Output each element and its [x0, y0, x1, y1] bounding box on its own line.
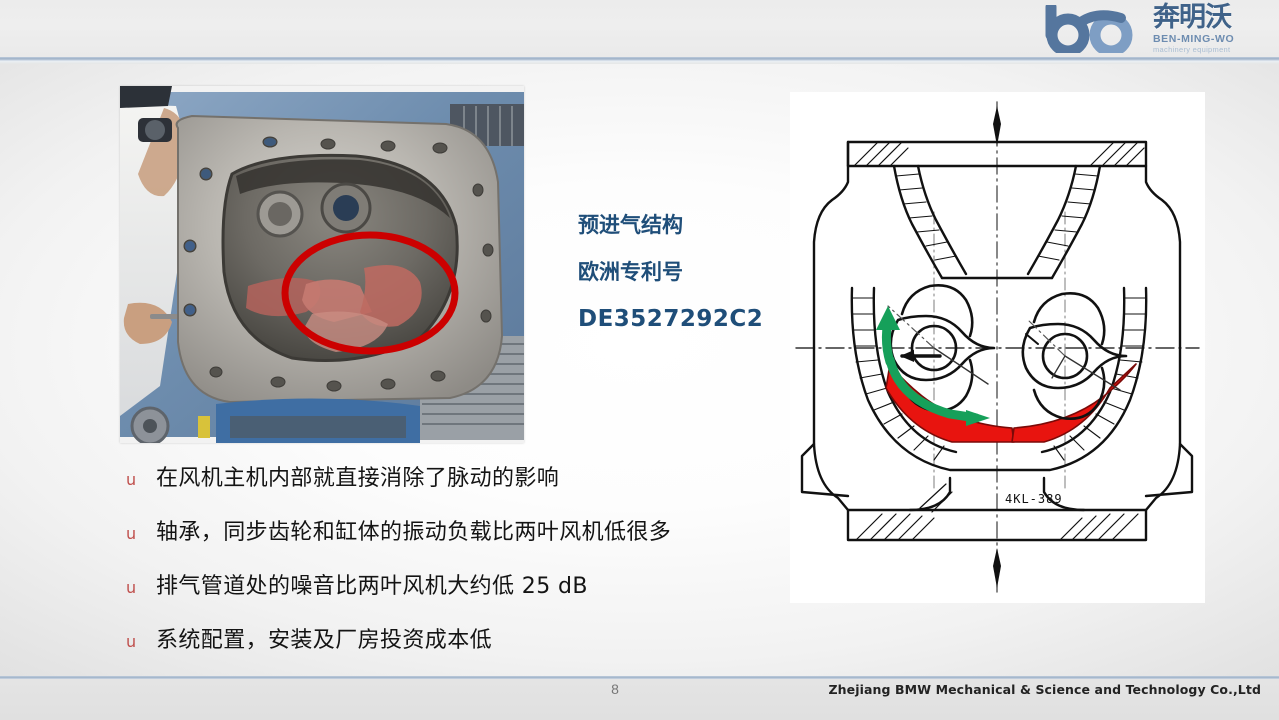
bullet-marker-icon: u — [118, 524, 156, 543]
bullet-marker-icon: u — [118, 632, 156, 651]
blower-casing-photo — [120, 86, 524, 443]
presentation-slide: 奔明沃 BEN-MING-WO machinery equipment — [0, 0, 1279, 720]
footer-company-name: Zhejiang BMW Mechanical & Science and Te… — [829, 682, 1261, 697]
patent-heading-block: 预进气结构 欧洲专利号 DE3527292C2 — [578, 202, 793, 343]
list-item: u 系统配置，安装及厂房投资成本低 — [118, 622, 818, 676]
list-item: u 轴承，同步齿轮和缸体的振动负载比两叶风机低很多 — [118, 514, 818, 568]
bullet-text: 系统配置，安装及厂房投资成本低 — [156, 622, 492, 654]
logo-chinese-name: 奔明沃 — [1153, 3, 1271, 33]
logo-wordmark: 奔明沃 BEN-MING-WO machinery equipment — [1153, 3, 1271, 55]
feature-bullet-list: u 在风机主机内部就直接消除了脉动的影响 u 轴承，同步齿轮和缸体的振动负载比两… — [118, 460, 818, 676]
bullet-marker-icon: u — [118, 470, 156, 489]
bullet-marker-icon: u — [118, 578, 156, 597]
heading-line-2: 欧洲专利号 — [578, 249, 793, 296]
bullet-text: 排气管道处的噪音比两叶风机大约低 25 dB — [156, 568, 588, 600]
heading-patent-number: DE3527292C2 — [578, 296, 793, 343]
bullet-text: 轴承，同步齿轮和缸体的振动负载比两叶风机低很多 — [156, 514, 671, 546]
header-divider-shadow — [0, 61, 1279, 64]
list-item: u 在风机主机内部就直接消除了脉动的影响 — [118, 460, 818, 514]
list-item: u 排气管道处的噪音比两叶风机大约低 25 dB — [118, 568, 818, 622]
bo-monogram-icon — [1045, 5, 1149, 53]
heading-line-1: 预进气结构 — [578, 202, 793, 249]
page-number: 8 — [600, 681, 630, 697]
diagram-part-label: 4KL-389 — [1005, 492, 1063, 506]
blower-cross-section-diagram — [790, 92, 1205, 603]
discharge-flow-arrow — [993, 548, 1001, 588]
bullet-text: 在风机主机内部就直接消除了脉动的影响 — [156, 460, 559, 492]
logo-tagline: machinery equipment — [1153, 45, 1271, 54]
company-logo: 奔明沃 BEN-MING-WO machinery equipment — [1045, 3, 1267, 55]
inlet-flow-arrow — [993, 106, 1001, 146]
red-pocket-left — [886, 364, 1014, 442]
logo-english-name: BEN-MING-WO — [1153, 33, 1271, 45]
